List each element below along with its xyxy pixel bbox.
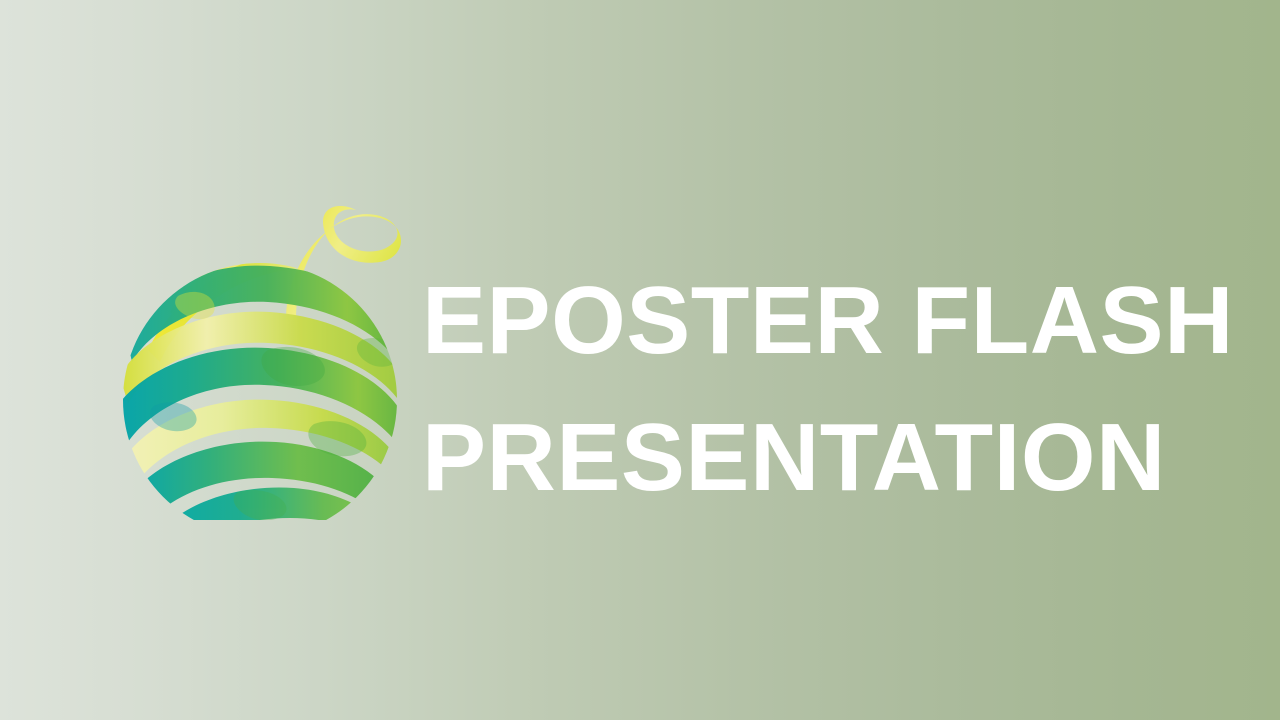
title-line-2: PRESENTATION	[422, 389, 1222, 526]
slide-title: EPOSTER FLASH PRESENTATION	[422, 252, 1222, 526]
logo-globe-bands	[118, 234, 403, 520]
title-line-1: EPOSTER FLASH	[422, 252, 1222, 389]
globe-ribbon-logo	[118, 200, 403, 520]
globe-ribbon-logo-svg	[118, 200, 403, 520]
slide-canvas: EPOSTER FLASH PRESENTATION	[0, 0, 1280, 720]
